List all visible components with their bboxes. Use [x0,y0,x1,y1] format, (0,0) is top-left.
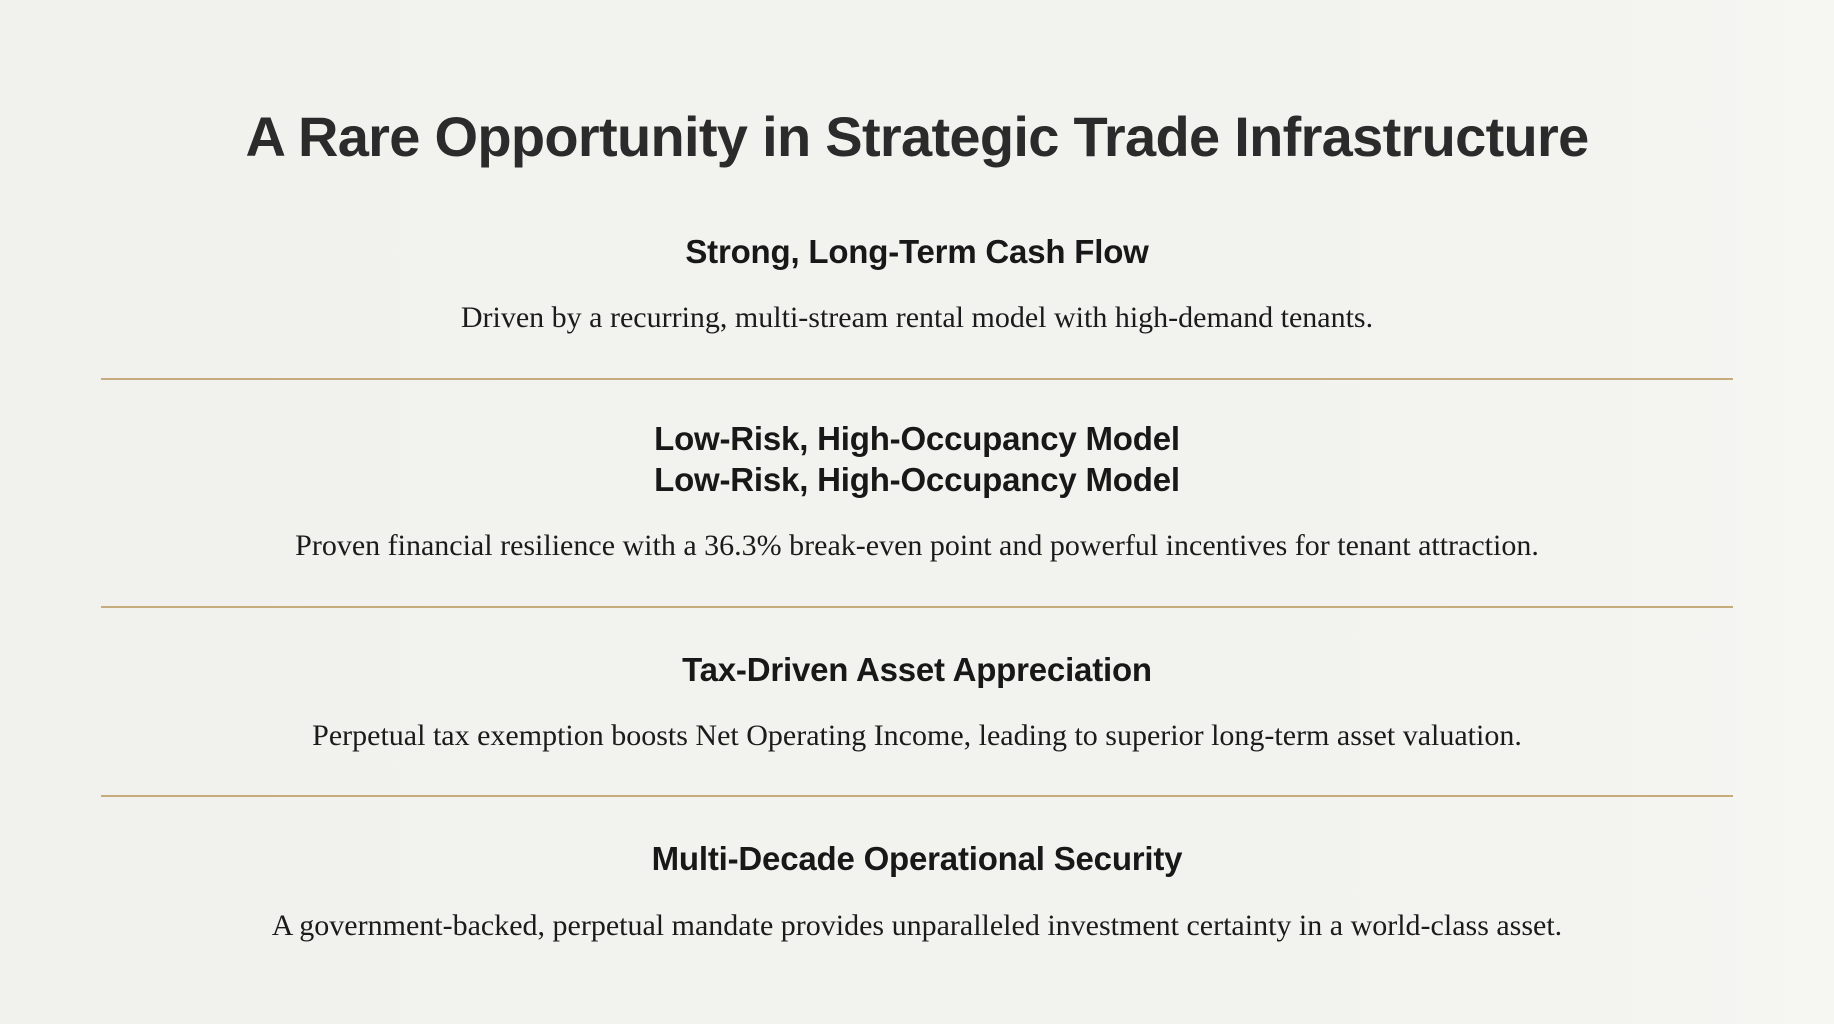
benefit-heading-1: Strong, Long-Term Cash Flow [103,232,1731,273]
benefit-body-4: A government-backed, perpetual mandate p… [103,906,1731,945]
section-divider [101,795,1733,797]
slide-canvas: A Rare Opportunity in Strategic Trade In… [0,0,1834,1024]
benefit-heading-4: Multi-Decade Operational Security [103,839,1731,880]
section-divider [101,606,1733,608]
benefit-section-4: Multi-Decade Operational Security A gove… [0,797,1834,945]
benefit-body-2: Proven financial resilience with a 36.3%… [103,526,1731,565]
benefit-section-3: Tax-Driven Asset Appreciation Perpetual … [0,608,1834,755]
benefit-heading-2: Low-Risk, High-Occupancy Model [103,419,1731,460]
benefit-section-1: Strong, Long-Term Cash Flow Driven by a … [0,232,1834,337]
benefit-section-2: Low-Risk, High-Occupancy Model Low-Risk,… [0,380,1834,565]
benefit-heading-3: Tax-Driven Asset Appreciation [103,650,1731,691]
divider-2-wrap [0,565,1834,608]
benefit-body-1: Driven by a recurring, multi-stream rent… [103,298,1731,337]
benefit-heading-2-duplicate: Low-Risk, High-Occupancy Model [103,460,1731,501]
divider-1-wrap [0,337,1834,380]
section-divider [101,378,1733,380]
benefits-list: Strong, Long-Term Cash Flow Driven by a … [0,232,1834,945]
benefit-body-3: Perpetual tax exemption boosts Net Opera… [103,716,1731,755]
divider-3-wrap [0,755,1834,797]
page-title: A Rare Opportunity in Strategic Trade In… [0,107,1834,167]
